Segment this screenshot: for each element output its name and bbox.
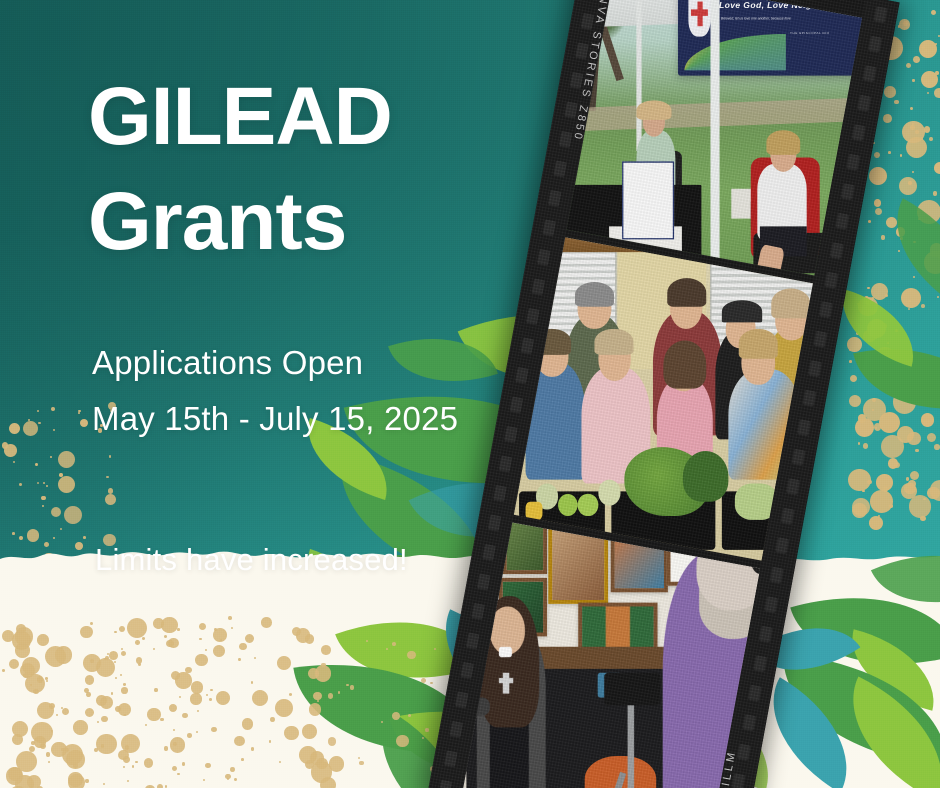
film-frame-outdoor-booth: Love God, Love Neig Beloved, let us love… bbox=[567, 0, 863, 275]
splatter-dot bbox=[68, 774, 85, 788]
splatter-dot bbox=[13, 461, 15, 463]
splatter-dot bbox=[908, 181, 912, 185]
splatter-dot bbox=[847, 337, 862, 352]
splatter-dot bbox=[12, 721, 28, 737]
splatter-dot bbox=[934, 88, 940, 98]
photo-interview-recording bbox=[461, 523, 760, 788]
splatter-dot bbox=[225, 774, 231, 780]
splatter-dot bbox=[907, 432, 921, 446]
banner-footer: THE EPISCOPAL DIO bbox=[790, 31, 830, 35]
splatter-dot bbox=[105, 656, 109, 660]
splatter-dot bbox=[867, 287, 869, 289]
splatter-dot bbox=[35, 463, 38, 466]
photo-outdoor-booth: Love God, Love Neig Beloved, let us love… bbox=[567, 0, 863, 275]
splatter-dot bbox=[299, 746, 317, 764]
page-title-line-1: GILEAD bbox=[88, 78, 392, 157]
film-frame-interview bbox=[461, 523, 760, 788]
film-perforation bbox=[438, 780, 452, 788]
banner-subtext: Beloved, let us love one another, becaus… bbox=[721, 18, 791, 22]
splatter-dot bbox=[38, 422, 40, 424]
splatter-dot bbox=[350, 685, 355, 690]
splatter-dot bbox=[912, 79, 914, 81]
splatter-dot bbox=[73, 720, 88, 735]
splatter-dot bbox=[118, 750, 129, 761]
splatter-dot bbox=[49, 703, 55, 709]
limits-increased-callout: Limits have increased! bbox=[95, 540, 408, 580]
splatter-dot bbox=[144, 758, 154, 768]
splatter-dot bbox=[166, 640, 173, 647]
splatter-dot bbox=[80, 419, 88, 427]
splatter-dot bbox=[309, 703, 321, 715]
film-frame-food-pantry bbox=[514, 237, 813, 560]
banner-headline: Love God, Love Neig bbox=[719, 2, 812, 11]
splatter-dot bbox=[848, 469, 870, 491]
splatter-dot bbox=[118, 703, 131, 716]
splatter-dot bbox=[108, 488, 113, 493]
splatter-dot bbox=[106, 476, 109, 479]
splatter-dot bbox=[37, 634, 49, 646]
splatter-dot bbox=[121, 651, 126, 656]
splatter-dot bbox=[228, 616, 232, 620]
splatter-dot bbox=[195, 654, 208, 667]
splatter-dot bbox=[909, 495, 932, 518]
splatter-dot bbox=[238, 658, 241, 661]
splatter-dot bbox=[392, 642, 396, 646]
splatter-dot bbox=[328, 737, 336, 745]
splatter-dot bbox=[338, 691, 340, 693]
splatter-dot bbox=[43, 482, 45, 484]
splatter-dot bbox=[191, 681, 203, 693]
splatter-dot bbox=[927, 92, 929, 94]
splatter-dot bbox=[407, 651, 415, 659]
splatter-dot bbox=[62, 708, 69, 715]
splatter-dot bbox=[164, 746, 168, 750]
splatter-dot bbox=[275, 699, 293, 717]
splatter-dot bbox=[51, 507, 61, 517]
splatter-dot bbox=[96, 734, 116, 754]
splatter-dot bbox=[209, 698, 212, 701]
splatter-dot bbox=[317, 700, 319, 702]
splatter-dot bbox=[115, 677, 117, 679]
splatter-dot bbox=[899, 19, 909, 29]
splatter-dot bbox=[179, 696, 181, 698]
splatter-dot bbox=[78, 410, 80, 412]
splatter-dot bbox=[849, 360, 852, 363]
splatter-dot bbox=[894, 462, 900, 468]
splatter-dot bbox=[123, 683, 125, 685]
splatter-dot bbox=[190, 693, 201, 704]
splatter-dot bbox=[910, 471, 919, 480]
splatter-dot bbox=[239, 643, 246, 650]
splatter-dot bbox=[34, 736, 45, 747]
splatter-dot bbox=[145, 724, 147, 726]
splatter-dot bbox=[165, 785, 168, 788]
splatter-dot bbox=[392, 712, 400, 720]
splatter-dot bbox=[45, 677, 48, 680]
splatter-dot bbox=[205, 763, 210, 768]
splatter-dot bbox=[245, 634, 254, 643]
splatter-dot bbox=[858, 414, 867, 423]
splatter-dot bbox=[320, 777, 336, 788]
splatter-dot bbox=[37, 410, 39, 412]
page-title-line-2: Grants bbox=[88, 183, 346, 262]
splatter-dot bbox=[85, 779, 88, 782]
splatter-dot bbox=[213, 628, 227, 642]
splatter-dot bbox=[889, 504, 893, 508]
splatter-dot bbox=[101, 744, 104, 747]
splatter-dot bbox=[430, 682, 433, 685]
splatter-dot bbox=[199, 638, 202, 641]
splatter-dot bbox=[913, 56, 920, 63]
splatter-dot bbox=[850, 375, 857, 382]
splatter-dot bbox=[31, 741, 35, 745]
splatter-dot bbox=[359, 761, 364, 766]
splatter-dot bbox=[321, 663, 325, 667]
splatter-dot bbox=[251, 681, 254, 684]
splatter-dot bbox=[894, 100, 898, 104]
splatter-dot bbox=[935, 43, 937, 45]
splatter-dot bbox=[15, 643, 29, 657]
splatter-dot bbox=[127, 618, 147, 638]
splatter-dot bbox=[64, 506, 82, 524]
splatter-dot bbox=[182, 762, 186, 766]
splatter-dot bbox=[96, 658, 115, 677]
splatter-dot bbox=[321, 645, 331, 655]
splatter-dot bbox=[921, 413, 935, 427]
splatter-dot bbox=[182, 713, 187, 718]
splatter-dot bbox=[862, 490, 865, 493]
splatter-dot bbox=[230, 767, 235, 772]
splatter-dot bbox=[277, 656, 291, 670]
splatter-dot bbox=[934, 162, 940, 174]
splatter-dot bbox=[308, 668, 319, 679]
splatter-dot bbox=[346, 684, 349, 687]
splatter-dot bbox=[23, 673, 28, 678]
splatter-dot bbox=[879, 412, 900, 433]
splatter-dot bbox=[59, 473, 63, 477]
splatter-dot bbox=[908, 480, 916, 488]
splatter-dot bbox=[935, 71, 939, 75]
applications-open-label: Applications Open bbox=[92, 342, 363, 384]
splatter-dot bbox=[328, 693, 333, 698]
splatter-dot bbox=[80, 626, 93, 639]
film-perforation bbox=[732, 773, 746, 788]
splatter-dot bbox=[37, 676, 43, 682]
splatter-dot bbox=[888, 151, 891, 154]
splatter-dot bbox=[41, 496, 46, 501]
splatter-dot bbox=[241, 758, 244, 761]
splatter-dot bbox=[425, 728, 428, 731]
splatter-dot bbox=[78, 412, 80, 414]
splatter-dot bbox=[55, 646, 72, 663]
splatter-dot bbox=[121, 648, 123, 650]
splatter-dot bbox=[284, 726, 298, 740]
splatter-dot bbox=[154, 688, 158, 692]
splatter-dot bbox=[852, 498, 870, 516]
splatter-dot bbox=[157, 784, 163, 788]
splatter-dot bbox=[9, 659, 19, 669]
splatter-dot bbox=[422, 737, 424, 739]
splatter-dot bbox=[27, 775, 41, 788]
splatter-dot bbox=[213, 645, 226, 658]
splatter-dot bbox=[187, 733, 192, 738]
splatter-dot bbox=[270, 717, 275, 722]
poster-canvas: GILEAD Grants Applications Open May 15th… bbox=[0, 0, 940, 788]
splatter-dot bbox=[114, 631, 117, 634]
photo-food-pantry-group bbox=[514, 237, 813, 560]
splatter-dot bbox=[4, 444, 17, 457]
splatter-dot bbox=[874, 423, 881, 430]
splatter-dot bbox=[114, 661, 116, 663]
splatter-dot bbox=[934, 444, 939, 449]
splatter-dot bbox=[121, 687, 127, 693]
splatter-dot bbox=[884, 86, 896, 98]
splatter-dot bbox=[261, 617, 272, 628]
splatter-dot bbox=[37, 482, 39, 484]
splatter-dot bbox=[305, 634, 314, 643]
splatter-dot bbox=[915, 449, 918, 452]
splatter-dot bbox=[216, 691, 230, 705]
splatter-dot bbox=[138, 663, 141, 666]
splatter-dot bbox=[933, 191, 938, 196]
splatter-dot bbox=[172, 766, 177, 771]
splatter-dot bbox=[269, 740, 271, 742]
splatter-dot bbox=[313, 692, 321, 700]
splatter-dot bbox=[51, 742, 67, 758]
splatter-dot bbox=[58, 476, 75, 493]
splatter-dot bbox=[899, 177, 917, 195]
application-date-range: May 15th - July 15, 2025 bbox=[92, 398, 458, 440]
splatter-dot bbox=[86, 692, 91, 697]
splatter-dot bbox=[73, 763, 77, 767]
splatter-dot bbox=[870, 490, 893, 513]
splatter-dot bbox=[132, 765, 135, 768]
splatter-dot bbox=[874, 199, 881, 206]
splatter-dot bbox=[58, 451, 75, 468]
splatter-dot bbox=[396, 735, 408, 747]
splatter-dot bbox=[109, 455, 112, 458]
splatter-dot bbox=[119, 626, 125, 632]
splatter-dot bbox=[863, 443, 868, 448]
